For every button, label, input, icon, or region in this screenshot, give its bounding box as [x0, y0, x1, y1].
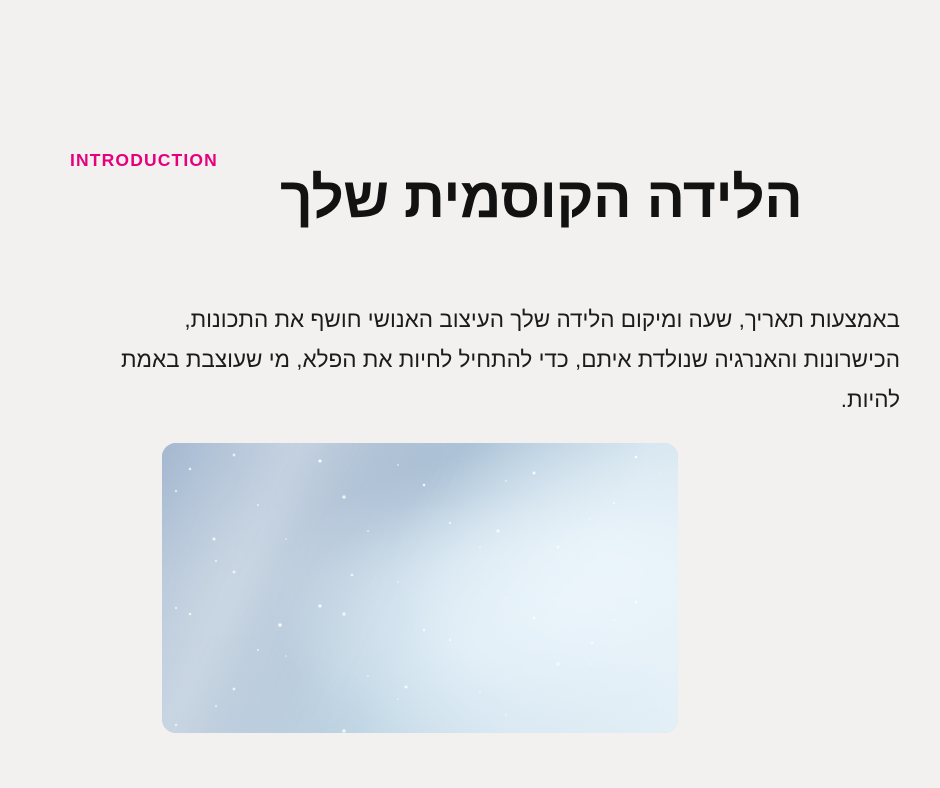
starry-sky-image [162, 443, 678, 733]
section-eyebrow-label: INTRODUCTION [70, 118, 218, 204]
body-paragraph: באמצעות תאריך, שעה ומיקום הלידה שלך העיצ… [110, 300, 900, 420]
slide-canvas: INTRODUCTION הלידה הקוסמית שלך באמצעות ת… [0, 0, 940, 788]
page-title: הלידה הקוסמית שלך [280, 156, 900, 242]
haze-overlay [162, 443, 678, 733]
slide-header: INTRODUCTION הלידה הקוסמית שלך [0, 118, 940, 204]
